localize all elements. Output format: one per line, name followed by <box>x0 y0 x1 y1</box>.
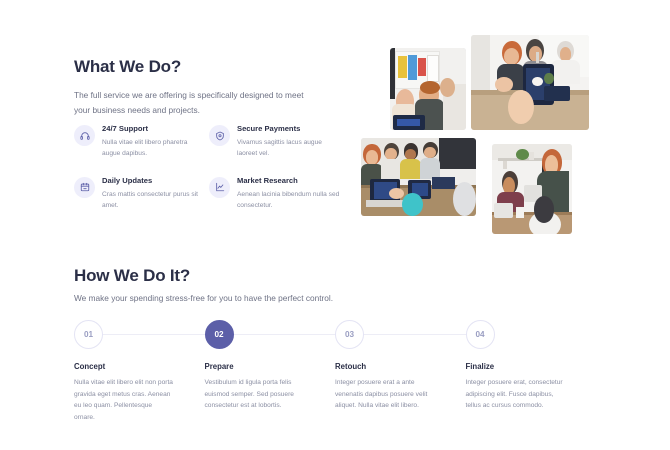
step-number-badge[interactable]: 01 <box>74 320 103 349</box>
step-desc: Integer posuere erat, consectetur adipis… <box>466 377 579 412</box>
step-desc: Vestibulum id ligula porta felis euismod… <box>205 377 318 412</box>
feature-desc: Aenean lacinia bibendum nulla sed consec… <box>237 189 340 212</box>
feature-desc: Cras mattis consectetur purus sit amet. <box>102 189 205 212</box>
photo-team-tablet-discussion <box>471 35 589 130</box>
step-desc: Integer posuere erat a ante venenatis da… <box>335 377 448 412</box>
shield-lock-icon <box>209 125 230 146</box>
feature-item-market-research[interactable]: Market Research Aenean lacinia bibendum … <box>209 176 340 212</box>
what-we-do-subtitle: The full service we are offering is spec… <box>74 88 306 117</box>
photo-collage <box>355 28 655 228</box>
step-number-badge-active[interactable]: 02 <box>205 320 234 349</box>
step-item-retouch[interactable]: 03 Retouch Integer posuere erat a ante v… <box>335 320 466 424</box>
feature-item-support[interactable]: 24/7 Support Nulla vitae elit libero pha… <box>74 124 205 160</box>
step-title: Prepare <box>205 362 318 371</box>
step-item-prepare[interactable]: 02 Prepare Vestibulum id ligula porta fe… <box>205 320 336 424</box>
step-title: Concept <box>74 362 187 371</box>
photo-office-standing-chat <box>492 144 572 234</box>
step-desc: Nulla vitae elit libero elit non porta g… <box>74 377 187 424</box>
calendar-refresh-icon <box>74 177 95 198</box>
what-we-do-title: What We Do? <box>74 57 324 77</box>
step-list: 01 Concept Nulla vitae elit libero elit … <box>74 320 596 424</box>
step-title: Finalize <box>466 362 579 371</box>
how-we-do-it-title: How We Do It? <box>74 266 190 286</box>
line-chart-icon <box>209 177 230 198</box>
photo-meeting-two-women <box>390 48 466 130</box>
step-number-badge[interactable]: 04 <box>466 320 495 349</box>
feature-title: Daily Updates <box>102 176 205 185</box>
feature-desc: Nulla vitae elit libero pharetra augue d… <box>102 137 205 160</box>
feature-item-secure-payments[interactable]: Secure Payments Vivamus sagittis lacus a… <box>209 124 340 160</box>
feature-title: Market Research <box>237 176 340 185</box>
feature-desc: Vivamus sagittis lacus augue laoreet vel… <box>237 137 340 160</box>
step-connector-line <box>364 334 478 335</box>
step-number-badge[interactable]: 03 <box>335 320 364 349</box>
feature-item-daily-updates[interactable]: Daily Updates Cras mattis consectetur pu… <box>74 176 205 212</box>
feature-title: 24/7 Support <box>102 124 205 133</box>
step-item-concept[interactable]: 01 Concept Nulla vitae elit libero elit … <box>74 320 205 424</box>
landing-page: What We Do? The full service we are offe… <box>0 0 670 450</box>
step-item-finalize[interactable]: 04 Finalize Integer posuere erat, consec… <box>466 320 597 424</box>
step-connector-line <box>103 334 217 335</box>
what-we-do-section: What We Do? The full service we are offe… <box>0 0 670 240</box>
step-connector-line <box>234 334 348 335</box>
photo-conference-laptops <box>361 138 476 216</box>
what-we-do-text-block: What We Do? The full service we are offe… <box>74 57 324 117</box>
feature-list: 24/7 Support Nulla vitae elit libero pha… <box>74 124 346 212</box>
step-title: Retouch <box>335 362 448 371</box>
feature-title: Secure Payments <box>237 124 340 133</box>
headset-icon <box>74 125 95 146</box>
how-we-do-it-subtitle: We make your spending stress-free for yo… <box>74 293 333 303</box>
